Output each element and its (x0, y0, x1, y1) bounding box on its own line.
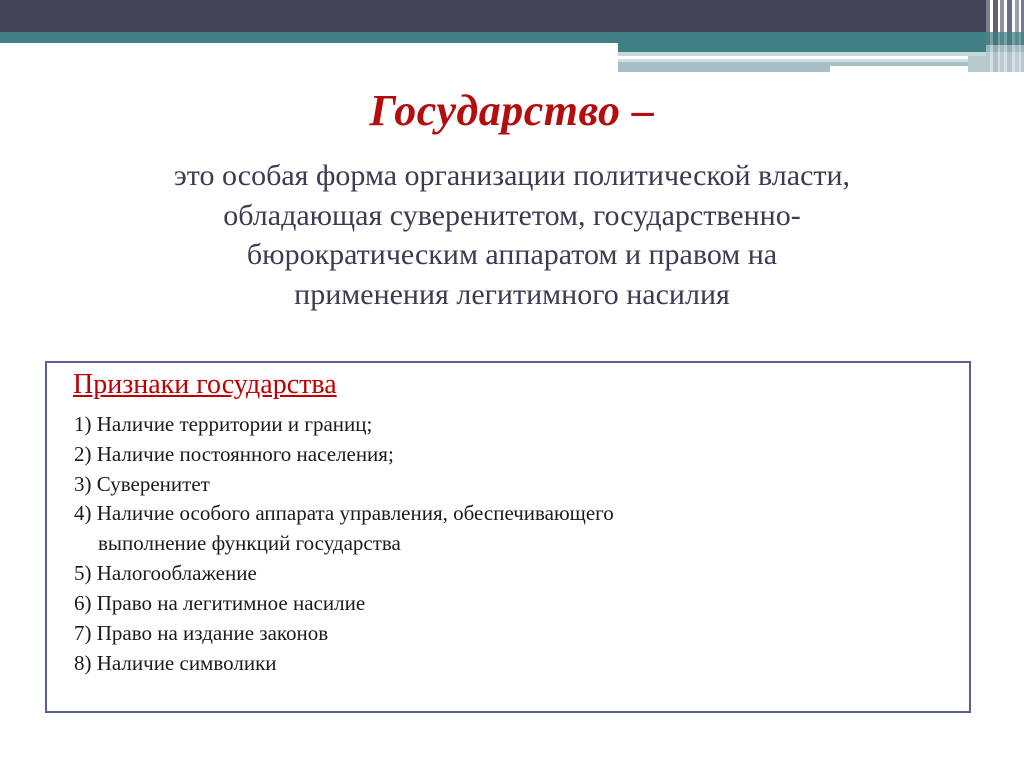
banner-accent-white-1 (618, 56, 968, 59)
features-box: Признаки государства 1) Наличие территор… (45, 361, 971, 713)
list-item: 5) Налогооблажение (59, 559, 959, 589)
slide-definition: это особая форма организации политическо… (60, 156, 964, 314)
list-item: 6) Право на легитимное насилие (59, 589, 959, 619)
definition-line-3: бюрократическим аппаратом и правом на (60, 235, 964, 275)
list-item-text: 2) Наличие постоянного населения; (74, 442, 394, 466)
list-item: 4) Наличие особого аппарата управления, … (59, 499, 959, 559)
list-item: 1) Наличие территории и границ; (59, 410, 959, 440)
definition-line-4: применения легитимного насилия (60, 275, 964, 315)
features-list: 1) Наличие территории и границ; 2) Налич… (59, 410, 959, 678)
banner-accent-teal-step (618, 43, 1024, 52)
banner-pinstripes (986, 0, 1024, 80)
list-item: 2) Наличие постоянного населения; (59, 440, 959, 470)
presentation-slide: Государство – это особая форма организац… (0, 0, 1024, 767)
list-item: 3) Суверенитет (59, 470, 959, 500)
list-item-text: 4) Наличие особого аппарата управления, … (74, 501, 614, 525)
definition-line-2: обладающая суверенитетом, государственно… (60, 196, 964, 236)
list-item-text: 8) Наличие символики (74, 651, 277, 675)
slide-title: Государство – (0, 88, 1024, 134)
definition-line-1: это особая форма организации политическо… (60, 156, 964, 196)
list-item: 8) Наличие символики (59, 649, 959, 679)
list-item: 7) Право на издание законов (59, 619, 959, 649)
list-item-text: 7) Право на издание законов (74, 621, 328, 645)
features-heading: Признаки государства (73, 369, 337, 401)
header-banner-decoration (0, 0, 1024, 80)
list-item-text: 3) Суверенитет (74, 472, 210, 496)
list-item-continuation: выполнение функций государства (74, 529, 959, 559)
banner-band-dark (0, 0, 1024, 32)
list-item-text: 5) Налогооблажение (74, 561, 257, 585)
list-item-text: 1) Наличие территории и границ; (74, 412, 372, 436)
list-item-text: 6) Право на легитимное насилие (74, 591, 365, 615)
